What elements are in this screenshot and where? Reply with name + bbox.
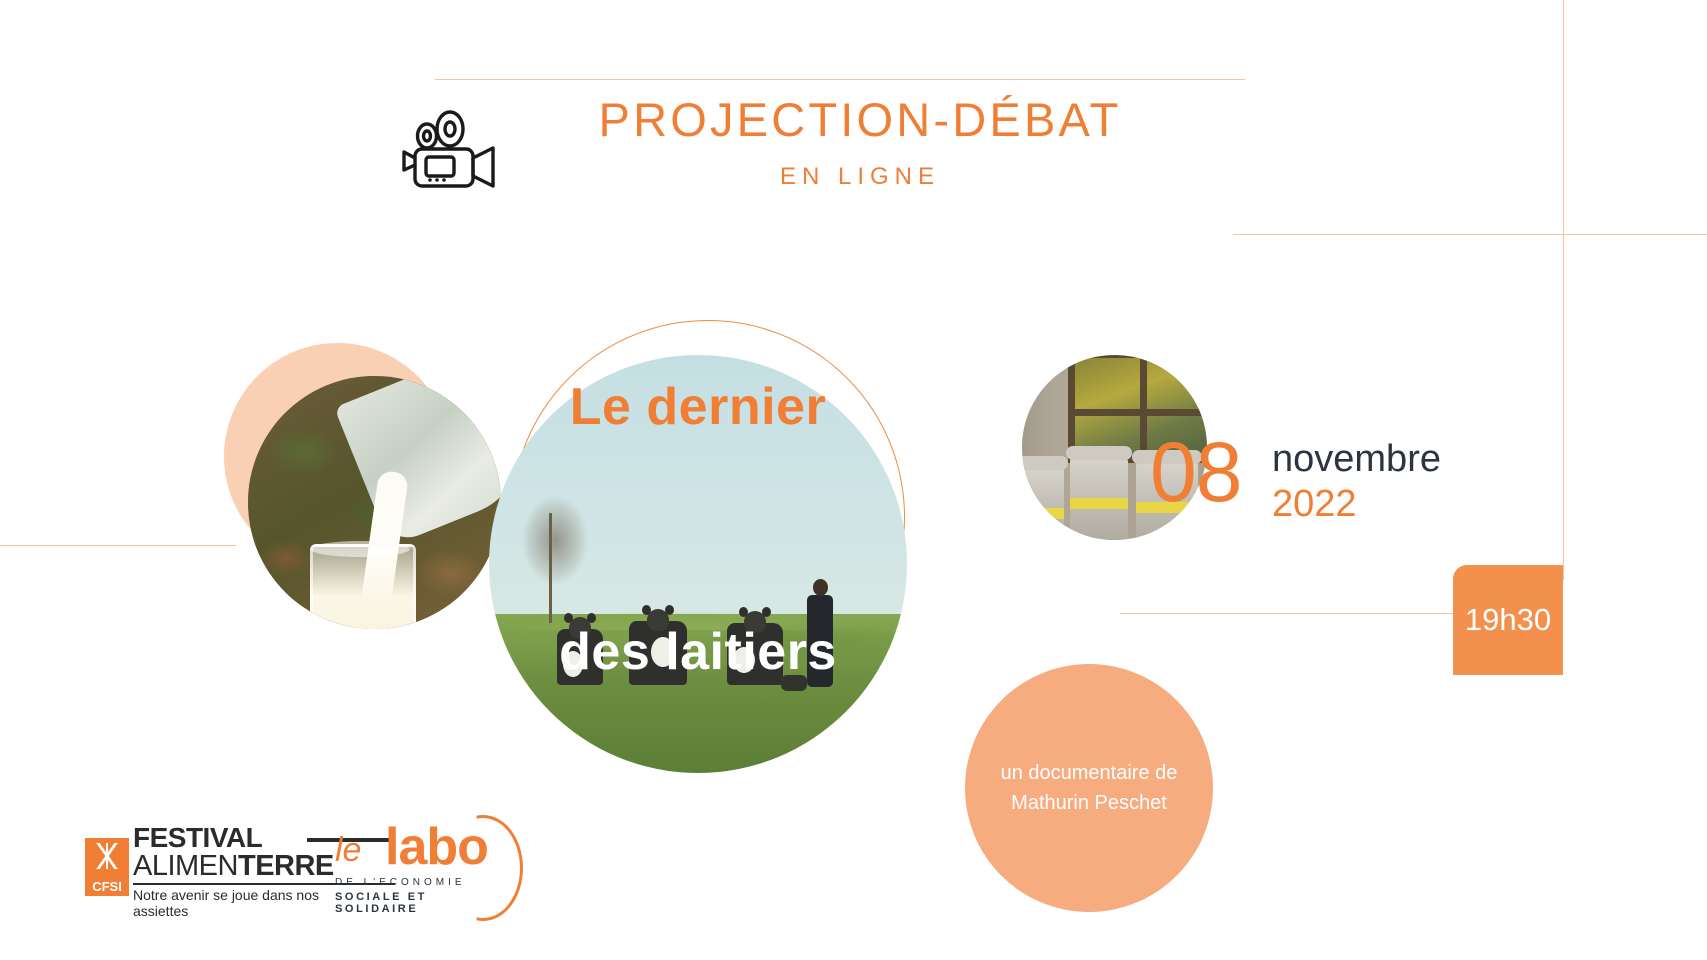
labo-subtitle-line-2: SOCIALE ET SOLIDAIRE (335, 891, 495, 915)
event-date-year: 2022 (1272, 485, 1357, 523)
film-camera-icon (398, 110, 508, 190)
decorative-rule-upper-right (1233, 234, 1707, 235)
labo-word-le: le (335, 833, 361, 867)
credit-line-2: Mathurin Peschet (1011, 788, 1167, 818)
festival-word-alimen: ALIMEN (133, 850, 238, 882)
cfsi-badge: CFSI (85, 838, 129, 896)
film-title-line-2: des laitiers (489, 622, 907, 682)
photo-milk-pouring (248, 376, 501, 629)
event-time-badge: 19h30 (1453, 565, 1563, 675)
logo-le-labo-ess: le labo DE L'ECONOMIE SOCIALE ET SOLIDAI… (325, 815, 495, 915)
labo-word-labo: labo (385, 821, 488, 873)
documentary-credit-circle: un documentaire de Mathurin Peschet (965, 664, 1213, 912)
milk-glass-shape (310, 544, 416, 629)
film-title-line-1: Le dernier (489, 377, 907, 437)
event-date-day: 08 (1150, 430, 1241, 514)
credit-line-1: un documentaire de (1001, 758, 1178, 788)
event-type-subtitle: EN LIGNE (500, 163, 1220, 191)
decorative-rule-left-middle (0, 545, 236, 546)
festival-word-alimenterre: ALIMENTERRE (133, 850, 334, 883)
event-date-month: novembre (1272, 440, 1441, 478)
festival-tagline: Notre avenir se joue dans nos assiettes (133, 887, 325, 919)
photo-milk-can (1022, 466, 1064, 540)
event-type-title: PROJECTION-DÉBAT (500, 95, 1220, 144)
decorative-rule-vertical-right (1563, 0, 1564, 580)
decorative-rule-top (435, 79, 1245, 80)
photo-tree (507, 473, 603, 623)
logo-festival-alimenterre: CFSI FESTIVAL ALIMENTERRE Notre avenir s… (85, 820, 325, 910)
labo-subtitle-line-1: DE L'ECONOMIE (335, 877, 466, 888)
poster-canvas: PROJECTION-DÉBAT EN LIGNE Le dernier des… (0, 0, 1707, 960)
photo-milk-can (1070, 456, 1128, 540)
festival-word-terre: TERRE (238, 850, 334, 882)
